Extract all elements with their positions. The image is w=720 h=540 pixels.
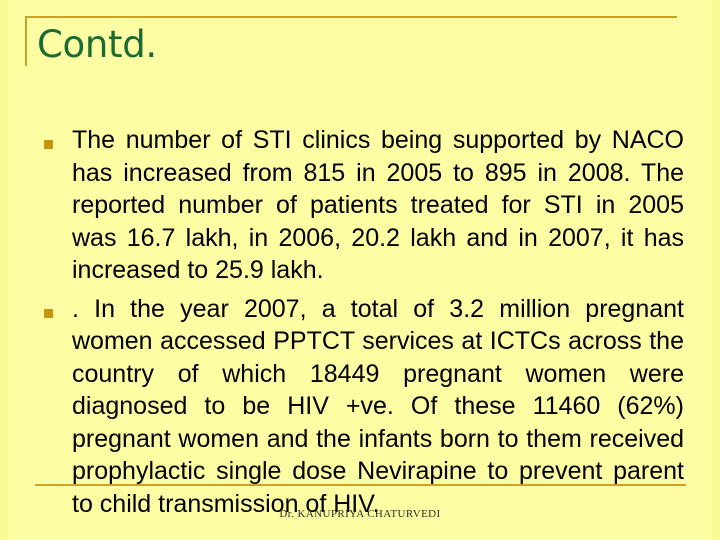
square-bullet-icon [44,309,53,318]
title-left-accent-rule [25,16,27,66]
title-top-rule [25,16,677,18]
slide-body: The number of STI clinics being supporte… [44,124,684,526]
footer-credit: Dr. KANUPRIYA CHATURVEDI [0,508,720,520]
slide-canvas: Contd. The number of STI clinics being s… [0,0,720,540]
page-title: Contd. [37,23,157,67]
left-margin-strip [0,0,8,540]
bullet-paragraph-1: The number of STI clinics being supporte… [72,124,684,287]
square-bullet-icon [44,140,53,149]
right-margin-strip [712,0,720,540]
list-item: The number of STI clinics being supporte… [44,124,684,287]
footer-divider [35,484,686,486]
